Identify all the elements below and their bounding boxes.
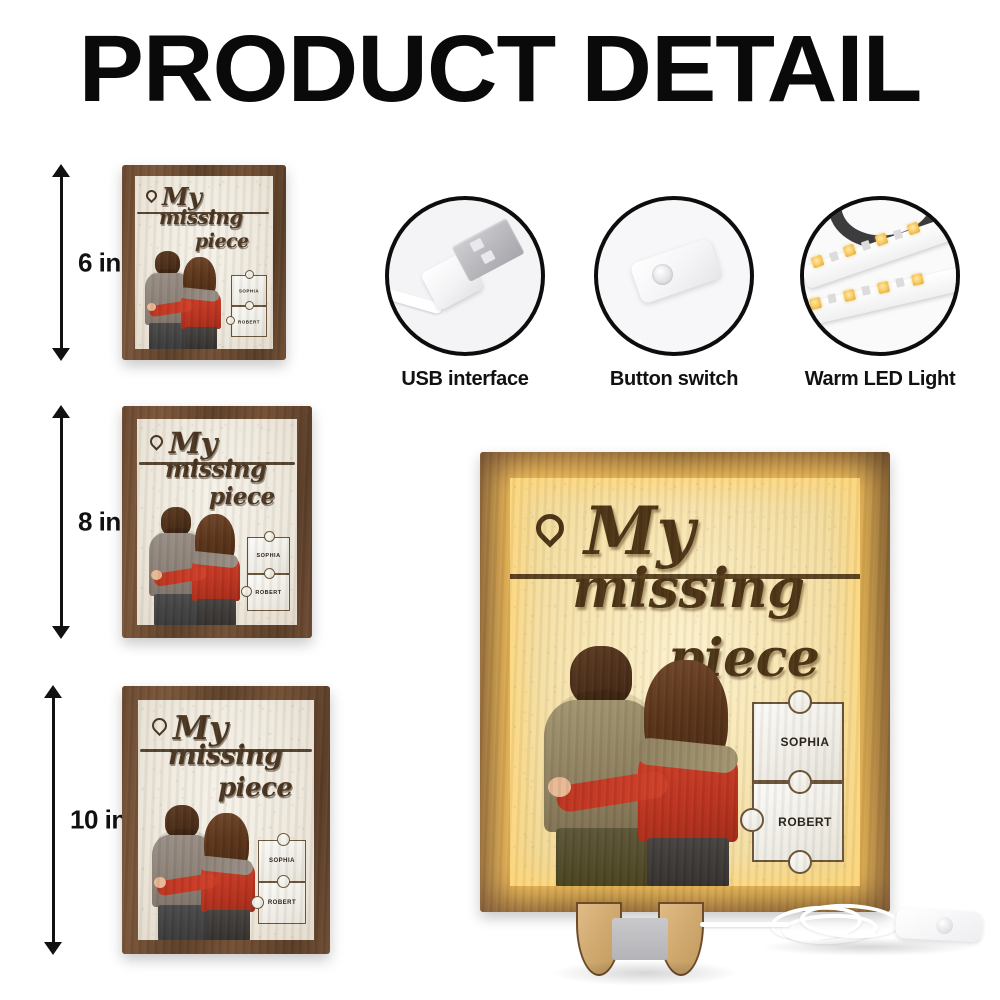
product-frame-6in: My missing piece — [122, 165, 286, 360]
hero-product: My missing piece — [480, 452, 890, 912]
puzzle-bottom-label: ROBERT — [258, 900, 306, 906]
feature-warm-led-light: Warm LED Light — [800, 196, 960, 396]
woman-hand — [154, 877, 166, 888]
arrow-head-up — [44, 685, 62, 698]
artwork-line-missing: missing — [165, 454, 266, 483]
inline-switch-icon — [629, 237, 722, 304]
usb-interface-circle — [385, 196, 545, 356]
frame-canvas-8in: My missing piece — [137, 419, 297, 625]
puzzle-top-label: SOPHIA — [752, 735, 844, 749]
puzzle-bottom-label: ROBERT — [231, 319, 267, 324]
arrow-head-down — [44, 942, 62, 955]
artwork-line-missing: missing — [159, 205, 243, 229]
puzzle-pieces-10in: SOPHIA ROBERT — [258, 840, 306, 924]
size-row-6in: 6 in My missing piece — [48, 165, 298, 360]
woman-hand — [147, 303, 156, 311]
artwork-line-missing: missing — [572, 556, 805, 620]
frame-canvas-6in: My missing piece — [135, 176, 273, 349]
switch-push-button — [936, 917, 953, 934]
woman-legs — [185, 327, 217, 349]
puzzle-top-label: SOPHIA — [258, 858, 306, 864]
warm-led-light-label: Warm LED Light — [805, 368, 956, 391]
page-title: PRODUCT DETAIL — [0, 22, 1000, 117]
woman-hand — [151, 570, 162, 580]
artwork-line-piece: piece — [195, 230, 249, 252]
puzzle-piece-bottom: ROBERT — [258, 882, 306, 924]
couple-illustration-8in — [142, 507, 252, 625]
woman-legs — [206, 910, 250, 940]
puzzle-bottom-label: ROBERT — [752, 815, 844, 829]
puzzle-pieces-8in: SOPHIA ROBERT — [247, 537, 290, 611]
dimension-arrow-10in — [40, 686, 66, 954]
size-row-8in: 8 in My missing piece — [48, 406, 318, 638]
feature-button-switch: Button switch — [594, 196, 754, 396]
puzzle-top-knob — [245, 270, 254, 279]
arrow-head-down — [52, 626, 70, 639]
couple-illustration-lit — [532, 646, 782, 886]
arrow-shaft — [60, 173, 63, 352]
product-frame-lit: My missing piece — [480, 452, 890, 912]
woman-legs — [647, 838, 729, 886]
puzzle-top-knob — [788, 690, 812, 714]
dimension-arrow-6in — [48, 165, 74, 360]
button-switch-circle — [594, 196, 754, 356]
couple-illustration-10in — [144, 805, 268, 940]
frame-canvas-10in: My missing piece — [138, 700, 314, 940]
puzzle-bottom-knob — [788, 770, 812, 794]
led-solder-pad — [861, 285, 871, 296]
usb-interface-label: USB interface — [401, 368, 528, 391]
size-label-8in: 8 in — [78, 507, 121, 538]
puzzle-top-label: SOPHIA — [247, 553, 290, 559]
arrow-head-down — [52, 348, 70, 361]
arrow-head-up — [52, 164, 70, 177]
arrow-head-up — [52, 405, 70, 418]
artwork-line-piece: piece — [218, 773, 292, 803]
puzzle-top-knob — [264, 531, 275, 542]
feature-usb-interface: USB interface — [385, 196, 545, 396]
heart-outline-icon — [149, 715, 170, 736]
size-row-10in: 10 in My missing piece — [40, 686, 330, 954]
size-label-6in: 6 in — [78, 247, 121, 278]
puzzle-bottom-knob — [245, 301, 254, 310]
man-legs — [556, 828, 648, 886]
puzzle-bottom-bottom-knob — [788, 850, 812, 874]
frame-canvas-lit: My missing piece — [510, 478, 860, 886]
puzzle-piece-bottom: ROBERT — [752, 782, 844, 862]
product-frame-8in: My missing piece — [122, 406, 312, 638]
puzzle-bottom-knob — [264, 568, 275, 579]
artwork-line-missing: missing — [168, 740, 283, 771]
button-switch-label: Button switch — [610, 368, 738, 391]
puzzle-pieces-lit: SOPHIA ROBERT — [752, 702, 844, 862]
puzzle-bottom-knob — [277, 875, 290, 888]
woman-hand — [548, 777, 571, 797]
puzzle-pieces-6in: SOPHIA ROBERT — [231, 275, 267, 337]
heart-outline-icon — [144, 188, 160, 204]
cable-run — [700, 922, 790, 927]
puzzle-top-label: SOPHIA — [231, 288, 267, 293]
heart-outline-icon — [530, 508, 570, 548]
arrow-shaft — [52, 694, 55, 946]
switch-push-button — [652, 264, 673, 285]
cable-shadow — [760, 938, 975, 956]
arrow-shaft — [60, 414, 63, 630]
warm-led-light-circle — [800, 196, 960, 356]
product-detail-page: PRODUCT DETAIL 6 in My missing piece — [0, 0, 1000, 1000]
couple-illustration-6in — [139, 251, 231, 349]
dimension-arrow-8in — [48, 406, 74, 638]
heart-outline-icon — [147, 432, 165, 450]
stand-crossbar — [612, 918, 668, 960]
stand-shadow — [550, 960, 740, 986]
puzzle-top-knob — [277, 833, 290, 846]
led-solder-pad — [827, 293, 837, 304]
hero-power-cable — [770, 900, 995, 970]
puzzle-bottom-label: ROBERT — [247, 590, 290, 596]
led-solder-pad — [895, 277, 905, 288]
artwork-line-piece: piece — [209, 483, 275, 510]
puzzle-piece-bottom: ROBERT — [231, 306, 267, 337]
size-label-10in: 10 in — [70, 805, 127, 836]
puzzle-piece-bottom: ROBERT — [247, 574, 290, 611]
woman-legs — [197, 599, 236, 625]
product-frame-10in: My missing piece — [122, 686, 330, 954]
